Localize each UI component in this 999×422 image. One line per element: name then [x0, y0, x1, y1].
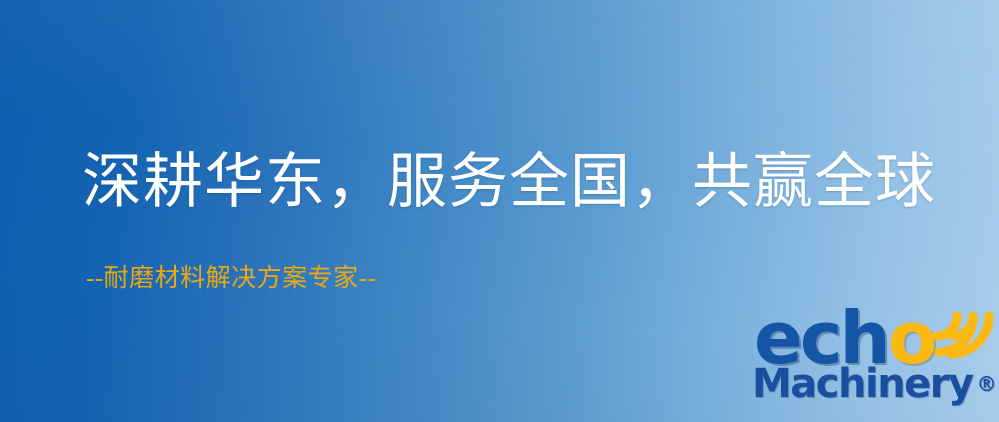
- promo-banner: 深耕华东，服务全国，共赢全球 --耐磨材料解决方案专家-- echo Machi…: [0, 0, 999, 422]
- logo-tagline: Machinery®: [752, 364, 997, 404]
- signal-arcs-icon: [931, 296, 997, 362]
- logo-tagline-text: Machinery: [752, 361, 973, 407]
- registered-trademark-icon: ®: [977, 372, 997, 396]
- company-logo[interactable]: echo Machinery®: [748, 296, 999, 422]
- banner-headline: 深耕华东，服务全国，共赢全球: [82, 152, 936, 212]
- banner-subtitle: --耐磨材料解决方案专家--: [86, 266, 376, 291]
